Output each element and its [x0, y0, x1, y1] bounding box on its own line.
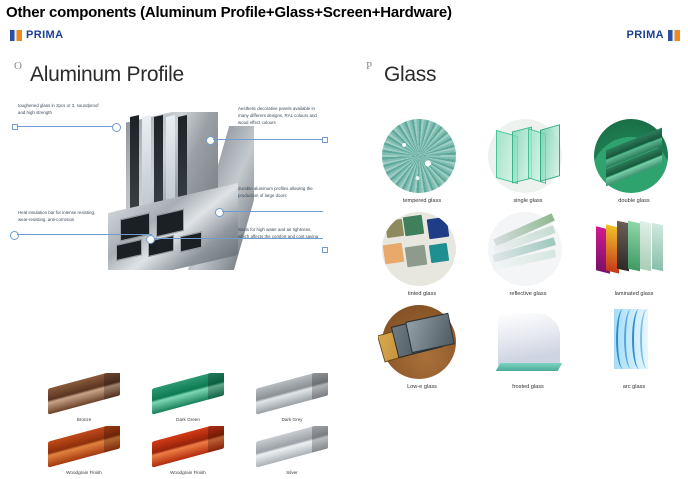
section-marker-o: O	[14, 60, 22, 72]
single-glass-image	[484, 117, 572, 197]
profile-finish-label: Dark Grey	[252, 417, 332, 422]
prima-logo-icon	[10, 30, 22, 41]
glass-item-label: double glass	[590, 198, 678, 204]
lowe-glass-image	[378, 303, 466, 383]
callout-leader-line	[222, 211, 323, 212]
profile-bronze-image	[44, 373, 124, 415]
glass-row: Low-e glass frosted glass arc glass	[378, 303, 678, 390]
arc-glass-image	[590, 303, 678, 383]
profile-finish-grid: Bronze Dark Green Dark Grey Woodgrain Fi…	[44, 373, 334, 479]
callout-node	[215, 208, 224, 217]
tempered-glass-image	[378, 117, 466, 197]
glass-item-reflective[interactable]: reflective glass	[484, 210, 572, 297]
glass-type-grid: tempered glass single glass	[378, 117, 678, 396]
profile-finish-label: Silver	[252, 470, 332, 475]
glass-panel: P Glass tempered glass single glass	[352, 55, 688, 437]
profile-finish-silver[interactable]: Silver	[252, 426, 332, 475]
glass-title: Glass	[384, 63, 436, 87]
brand-logo-right-label: PRIMA	[627, 29, 664, 41]
callout-endpoint	[12, 124, 18, 130]
brand-logo-left-label: PRIMA	[26, 29, 63, 41]
callout-node	[112, 123, 121, 132]
tinted-glass-image	[378, 210, 466, 290]
callout-leader-line	[213, 139, 323, 140]
aluminum-profile-title: Aluminum Profile	[30, 63, 184, 87]
profile-dark-grey-image	[252, 373, 332, 415]
glass-item-frosted[interactable]: frosted glass	[484, 303, 572, 390]
glass-item-label: reflective glass	[484, 291, 572, 297]
callout-heat-insulation: Heat insulation bar for intense resistin…	[18, 210, 102, 224]
glass-item-single[interactable]: single glass	[484, 117, 572, 204]
glass-item-laminated[interactable]: laminated glass	[590, 210, 678, 297]
glass-item-lowe[interactable]: Low-e glass	[378, 303, 466, 390]
prima-logo-icon	[668, 30, 680, 41]
callout-endpoint	[322, 247, 328, 253]
brand-logo-right: PRIMA	[627, 29, 680, 41]
profile-dark-green-image	[148, 373, 228, 415]
laminated-glass-image	[590, 210, 678, 290]
callout-node	[146, 235, 155, 244]
callout-leader-line	[17, 234, 152, 235]
profile-finish-label: Woodgrain Finish	[148, 470, 228, 475]
glass-item-tempered[interactable]: tempered glass	[378, 117, 466, 204]
profile-woodgrain-2-image	[148, 426, 228, 468]
callout-node	[10, 231, 19, 240]
aluminum-profile-cutaway-image	[86, 112, 254, 270]
profile-finish-woodgrain-2[interactable]: Woodgrain Finish	[148, 426, 228, 475]
profile-finish-label: Bronze	[44, 417, 124, 422]
aluminum-profile-panel: O Aluminum Profile toughened glass in 2p…	[0, 55, 352, 437]
profile-finish-dark-green[interactable]: Dark Green	[148, 373, 228, 422]
glass-item-label: tinted glass	[378, 291, 466, 297]
callout-leader-line	[152, 238, 323, 239]
profile-finish-bronze[interactable]: Bronze	[44, 373, 124, 422]
frosted-glass-image	[484, 303, 572, 383]
callout-toughened-glass: toughened glass in 2pcs or 3, soundproof…	[18, 103, 102, 117]
section-marker-p: P	[366, 60, 372, 72]
profile-finish-woodgrain-1[interactable]: Woodgrain Finish	[44, 426, 124, 475]
glass-row: tinted glass reflective glass	[378, 210, 678, 297]
glass-item-tinted[interactable]: tinted glass	[378, 210, 466, 297]
callout-endpoint	[322, 137, 328, 143]
glass-item-label: frosted glass	[484, 384, 572, 390]
glass-row: tempered glass single glass	[378, 117, 678, 204]
profile-silver-image	[252, 426, 332, 468]
reflective-glass-image	[484, 210, 572, 290]
callout-durable-profiles: durable aluminum profiles allowing the p…	[238, 186, 322, 200]
profile-finish-row: Woodgrain Finish Woodgrain Finish Silver	[44, 426, 334, 475]
glass-item-arc[interactable]: arc glass	[590, 303, 678, 390]
profile-woodgrain-1-image	[44, 426, 124, 468]
glass-item-double[interactable]: double glass	[590, 117, 678, 204]
profile-finish-label: Woodgrain Finish	[44, 470, 124, 475]
profile-finish-row: Bronze Dark Green Dark Grey	[44, 373, 334, 422]
double-glass-image	[590, 117, 678, 197]
glass-item-label: laminated glass	[590, 291, 678, 297]
callout-leader-line	[17, 126, 114, 127]
brand-logo-left: PRIMA	[10, 29, 63, 41]
glass-item-label: arc glass	[590, 384, 678, 390]
glass-item-label: Low-e glass	[378, 384, 466, 390]
callout-decorative-panels: Aesthetic decorative panels available in…	[238, 106, 322, 126]
profile-finish-dark-grey[interactable]: Dark Grey	[252, 373, 332, 422]
glass-item-label: tempered glass	[378, 198, 466, 204]
callout-node	[206, 136, 215, 145]
profile-finish-label: Dark Green	[148, 417, 228, 422]
glass-item-label: single glass	[484, 198, 572, 204]
page-title: Other components (Aluminum Profile+Glass…	[6, 4, 452, 21]
